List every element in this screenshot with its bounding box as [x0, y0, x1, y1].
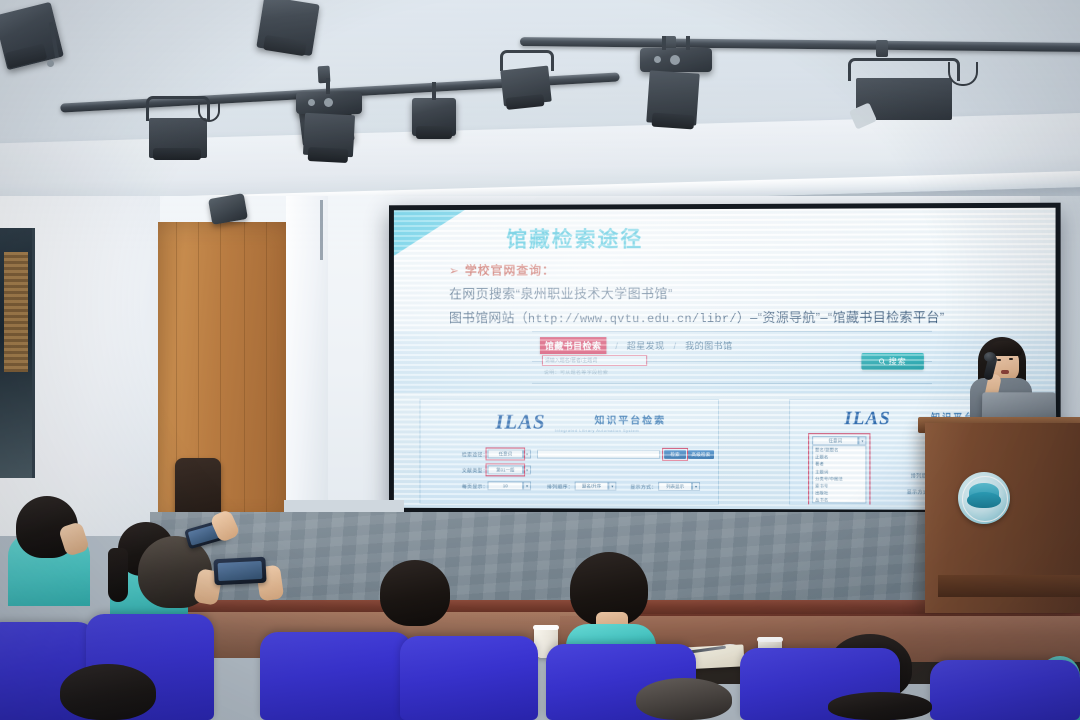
ilas-highlight-box-b [486, 463, 526, 476]
ilas-query-input[interactable] [537, 450, 660, 459]
ilas-panel-left: ILAS Integrated Library Automation Syste… [419, 399, 719, 505]
ilas-field-label-2: 文献类型： [462, 467, 488, 474]
slide-title: 馆藏检索途径 [506, 223, 643, 253]
ilas-extra-value-1: 题名/升序 [582, 483, 601, 489]
ilas-extra-caret-1[interactable]: ▾ [608, 482, 616, 491]
ilas-extra-label-1: 排列顺序： [547, 483, 573, 490]
bullet-arrow-icon: ➢ [449, 264, 460, 278]
side-chair [175, 458, 221, 520]
window-blind [4, 252, 28, 372]
ilas-extra-caret-2[interactable]: ▾ [692, 482, 700, 491]
ilas-advanced-button[interactable]: 高级检索 [688, 450, 714, 459]
ilas-highlight-box-a [486, 447, 526, 460]
opac-search-hint: 说明：可从题名等字段检索 [544, 369, 608, 376]
tab-separator-2: / [674, 341, 677, 351]
ilas-cn-title-left: 知识平台检索 [594, 412, 666, 427]
slide-line-2: 在网页搜索“泉州职业技术大学图书馆” [449, 283, 673, 302]
opac-search-placeholder: 请输入题名/著者/主题词 [545, 356, 646, 366]
tab-separator-1: / [615, 341, 618, 351]
slide-line-3: 图书馆网站（http://www.qvtu.edu.cn/libr/）–“资源导… [449, 307, 944, 327]
opac-tab-my-library[interactable]: 我的图书馆 [685, 339, 732, 352]
lecture-hall-photo: 馆藏检索途径 ➢学校官网查询： 在网页搜索“泉州职业技术大学图书馆” 图书馆网站… [0, 0, 1080, 720]
opac-search-button[interactable]: 搜索 [861, 353, 923, 370]
audience-head [60, 664, 156, 720]
left-window [0, 228, 35, 478]
ilas-field-select-3[interactable]: 10 [488, 481, 524, 490]
podium-base [938, 575, 1080, 597]
search-icon [879, 358, 886, 365]
school-emblem-icon [958, 472, 1010, 524]
wall-conduit [320, 200, 323, 260]
ilas-field-label-3: 每页显示： [462, 483, 488, 490]
slide-bullet-label: 学校官网查询： [465, 263, 555, 277]
ilas-field-label-1: 检索途径： [462, 451, 488, 458]
audience-head [636, 678, 732, 720]
ilas-extra-value-2: 列表显示 [666, 483, 684, 489]
ilas-logo-left: ILAS [495, 410, 545, 435]
audience-ponytail [108, 548, 128, 602]
opac-tab-bar: 馆藏书目检索 / 超星发现 / 我的图书馆 [540, 337, 733, 354]
slide-corner-decoration [394, 210, 465, 256]
opac-tab-discovery[interactable]: 超星发现 [627, 339, 665, 352]
ilas-caret-3[interactable]: ▾ [523, 481, 531, 490]
audience-chair [400, 636, 538, 720]
ilas-dropdown-highlight [808, 433, 870, 505]
ilas-highlight-box-c [662, 448, 688, 461]
audience-head [828, 692, 932, 720]
slide-line3-suffix: ）–“资源导航”–“馆藏书目检索平台” [737, 310, 945, 325]
smartphone[interactable] [213, 557, 266, 586]
library-url: http://www.qvtu.edu.cn/libr/ [528, 312, 737, 326]
ilas-advanced-button-label: 高级检索 [691, 451, 710, 457]
slide-bullet: ➢学校官网查询： [449, 261, 555, 278]
ilas-field-value-3: 10 [503, 483, 508, 488]
audience-chair [930, 660, 1080, 720]
microphone-head [984, 352, 996, 362]
ilas-logo-right: ILAS [844, 408, 891, 430]
opac-tab-catalog[interactable]: 馆藏书目检索 [540, 337, 606, 354]
audience-head [380, 560, 450, 626]
ilas-extra-label-2: 显示方式： [630, 484, 656, 491]
ilas-extra-select-2[interactable]: 列表显示 [658, 482, 692, 491]
opac-search-button-label: 搜索 [889, 356, 907, 367]
ilas-logo-sub-left: Integrated Library Automation System [555, 428, 639, 433]
slide-line3-prefix: 图书馆网站（ [449, 310, 528, 325]
presenter-mouth [1001, 370, 1009, 374]
ilas-extra-select-1[interactable]: 题名/升序 [575, 482, 609, 491]
audience-chair [260, 632, 412, 720]
opac-search-input[interactable]: 请输入题名/著者/主题词 [542, 355, 647, 366]
